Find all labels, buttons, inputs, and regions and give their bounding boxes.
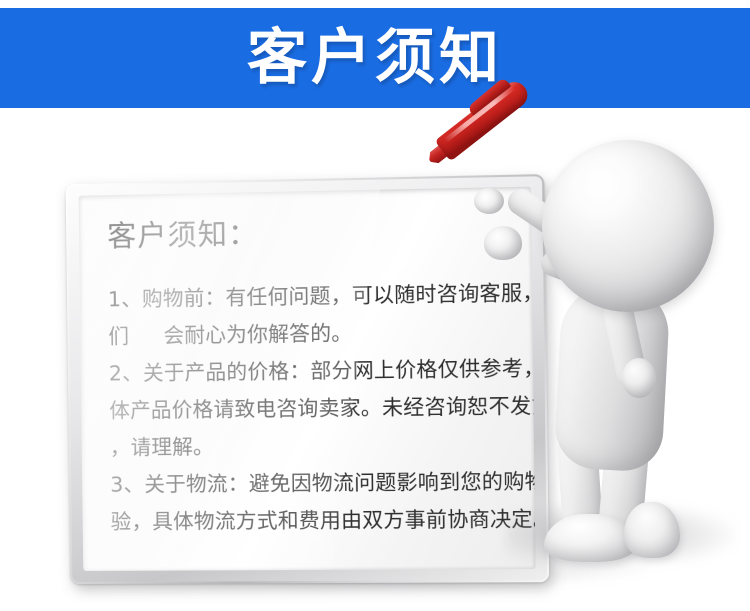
notice-line-2-cont2: ，请理解。 xyxy=(110,425,518,466)
whiteboard-surface: 客户须知： 1、购物前：有任何问题，可以随时咨询客服，我 们 会耐心为你解答的。… xyxy=(79,187,536,571)
banner-title: 客户须知 xyxy=(247,28,503,88)
notice-line-1: 1、购物前：有任何问题，可以随时咨询客服，我 xyxy=(108,274,516,318)
character-head xyxy=(542,140,714,312)
whiteboard-frame: 客户须知： 1、购物前：有任何问题，可以随时咨询客服，我 们 会耐心为你解答的。… xyxy=(66,174,550,584)
character-elbow xyxy=(622,358,656,398)
whiteboard-text-block: 客户须知： 1、购物前：有任何问题，可以随时咨询客服，我 们 会耐心为你解答的。… xyxy=(107,213,519,540)
notice-line-3: 3、关于物流：避免因物流问题影响到您的购物体 xyxy=(110,463,518,504)
whiteboard-heading: 客户须知： xyxy=(107,213,515,253)
illustration-scene: 客户须知： 1、购物前：有任何问题，可以随时咨询客服，我 们 会耐心为你解答的。… xyxy=(0,108,750,611)
notice-line-3-cont: 验，具体物流方式和费用由双方事前协商决定。 xyxy=(110,501,518,541)
character-illustration xyxy=(498,130,750,600)
whiteboard: 客户须知： 1、购物前：有任何问题，可以随时咨询客服，我 们 会耐心为你解答的。… xyxy=(68,184,538,584)
notice-line-2: 2、关于产品的价格：部分网上价格仅供参考，具 xyxy=(109,350,517,393)
character-left-foot xyxy=(544,514,636,562)
notice-line-1-cont: 们 会耐心为你解答的。 xyxy=(108,312,516,355)
character-hand xyxy=(484,226,522,260)
header-banner: 客户须知 xyxy=(0,8,750,108)
pen-grip xyxy=(474,188,504,214)
notice-line-2-cont: 体产品价格请致电咨询卖家。未经咨询恕不发货 xyxy=(109,388,517,430)
